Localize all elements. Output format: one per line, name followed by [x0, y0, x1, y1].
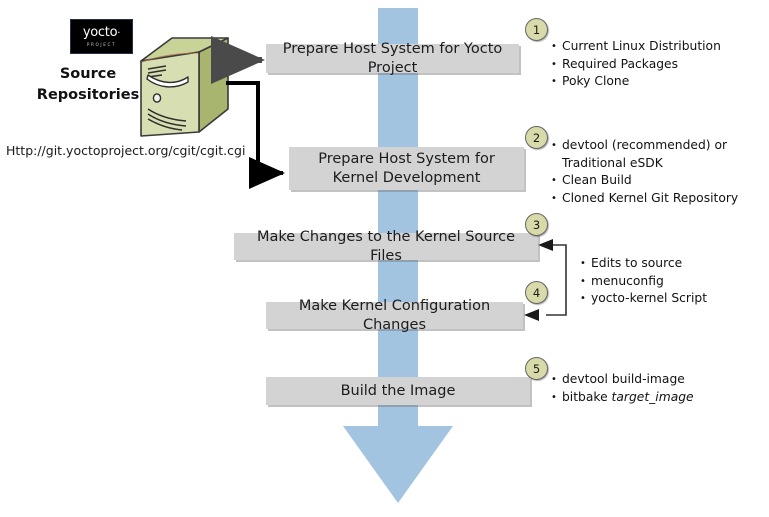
- step-badge-5: 5: [525, 357, 548, 380]
- step-badge-2: 2: [525, 126, 548, 149]
- bracket-steps-3-4: [546, 245, 566, 315]
- diagram-canvas: yocto· PROJECT Source Repositories Http:…: [0, 0, 769, 517]
- list-item: Cloned Kernel Git Repository: [551, 190, 763, 208]
- bullet-list-step-5: devtool build-image bitbake target_image: [551, 371, 751, 406]
- list-item: Current Linux Distribution: [551, 38, 761, 56]
- process-box-step-1[interactable]: Prepare Host System for Yocto Project: [266, 44, 519, 73]
- list-item: Poky Clone: [551, 73, 761, 91]
- process-box-step-5[interactable]: Build the Image: [266, 377, 530, 405]
- list-item-emphasis: target_image: [612, 390, 694, 404]
- arrow-source-to-step2: [226, 83, 283, 173]
- process-box-step-3[interactable]: Make Changes to the Kernel Source Files: [234, 233, 538, 260]
- process-box-step-4[interactable]: Make Kernel Configuration Changes: [266, 302, 523, 329]
- step-badge-1: 1: [525, 18, 548, 41]
- list-item: Clean Build: [551, 172, 763, 190]
- process-box-step-2[interactable]: Prepare Host System for Kernel Developme…: [289, 147, 524, 190]
- list-item: Required Packages: [551, 56, 761, 74]
- list-item-text: devtool build-image: [562, 372, 685, 386]
- step-badge-4: 4: [525, 281, 548, 304]
- list-item: devtool (recommended) or Traditional eSD…: [551, 137, 763, 172]
- arrowhead-into-step4: [524, 309, 539, 321]
- list-item-text: bitbake: [562, 390, 612, 404]
- arrowhead-into-step3: [538, 239, 553, 251]
- list-item: bitbake target_image: [551, 389, 751, 407]
- list-item: menuconfig: [580, 273, 760, 291]
- bullet-list-step-1: Current Linux Distribution Required Pack…: [551, 38, 761, 91]
- step-badge-3: 3: [525, 213, 548, 236]
- list-item: yocto-kernel Script: [580, 290, 760, 308]
- bullet-list-step-2: devtool (recommended) or Traditional eSD…: [551, 137, 763, 207]
- bullet-list-steps-3-4: Edits to source menuconfig yocto-kernel …: [580, 255, 760, 308]
- list-item: Edits to source: [580, 255, 760, 273]
- list-item: devtool build-image: [551, 371, 751, 389]
